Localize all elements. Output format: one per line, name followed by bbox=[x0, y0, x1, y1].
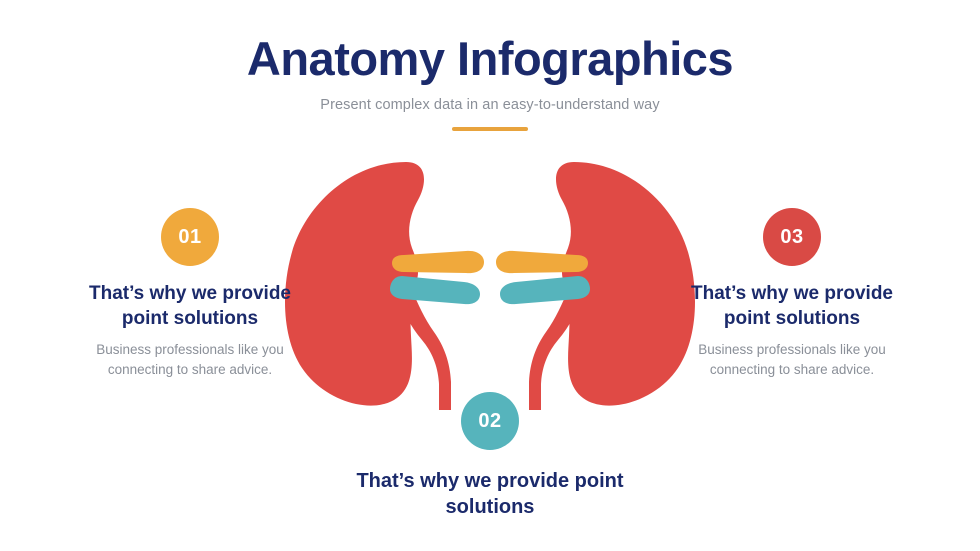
item-heading-03: That’s why we provide point solutions bbox=[680, 282, 904, 331]
item-heading-01: That’s why we provide point solutions bbox=[78, 282, 302, 331]
page-title: Anatomy Infographics bbox=[0, 34, 980, 83]
infographic-slide: Anatomy Infographics Present complex dat… bbox=[0, 0, 980, 551]
info-item-03: 03 That’s why we provide point solutions… bbox=[680, 208, 904, 379]
step-badge-02: 02 bbox=[461, 392, 519, 450]
slide-subtitle: Present complex data in an easy-to-under… bbox=[0, 97, 980, 113]
info-item-01: 01 That’s why we provide point solutions… bbox=[78, 208, 302, 379]
step-badge-01: 01 bbox=[161, 208, 219, 266]
item-heading-02: That’s why we provide point solutions bbox=[350, 468, 630, 521]
item-body-01: Business professionals like you connecti… bbox=[78, 340, 302, 378]
slide-header: Anatomy Infographics Present complex dat… bbox=[0, 34, 980, 131]
kidneys-illustration bbox=[278, 152, 702, 414]
title-divider bbox=[452, 127, 528, 131]
item-body-03: Business professionals like you connecti… bbox=[680, 340, 904, 378]
info-item-02: 02 That’s why we provide point solutions bbox=[350, 392, 630, 521]
step-badge-03: 03 bbox=[763, 208, 821, 266]
